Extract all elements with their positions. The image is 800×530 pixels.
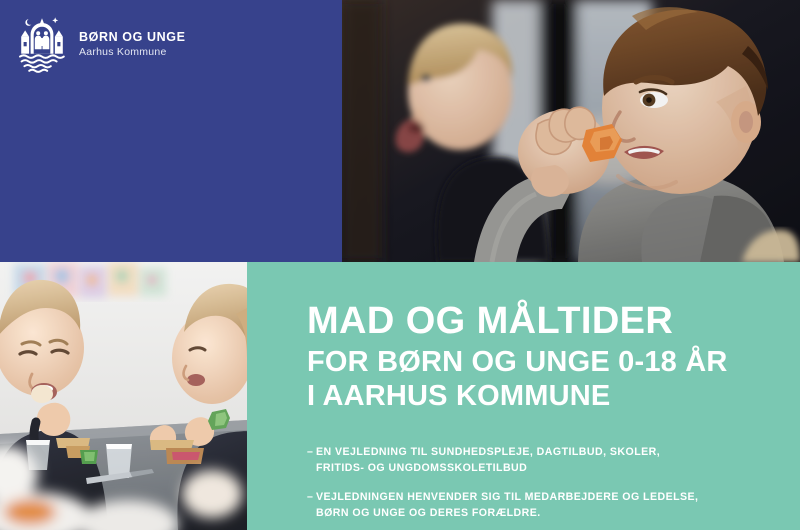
bullet-dash-icon: – <box>307 444 316 460</box>
aarhus-kommune-coat-of-arms-icon <box>14 14 70 76</box>
brand-panel: BØRN OG UNGE Aarhus Kommune <box>0 0 342 262</box>
publication-cover: BØRN OG UNGE Aarhus Kommune <box>0 0 800 530</box>
brand-title: BØRN OG UNGE <box>79 30 186 44</box>
teaser-panel: MAD OG MÅLTIDER FOR BØRN OG UNGE 0-18 ÅR… <box>247 262 800 530</box>
cover-headline: MAD OG MÅLTIDER FOR BØRN OG UNGE 0-18 ÅR… <box>307 302 790 413</box>
headline-line-2: FOR BØRN OG UNGE 0-18 ÅR <box>307 345 790 379</box>
bullet-dash-icon: – <box>307 489 316 505</box>
bullet-line: EN VEJLEDNING TIL SUNDHEDSPLEJE, DAGTILB… <box>316 444 660 460</box>
photo-two-toddlers-at-lunch-table-icon <box>0 262 247 530</box>
brand-subtitle: Aarhus Kommune <box>79 46 186 60</box>
photo-two-boys-eating-carrot-icon <box>342 0 800 262</box>
bullet-text: EN VEJLEDNING TIL SUNDHEDSPLEJE, DAGTILB… <box>316 444 660 477</box>
bullet-line: BØRN OG UNGE OG DERES FORÆLDRE. <box>316 505 698 521</box>
headline-line-3: I AARHUS KOMMUNE <box>307 379 790 413</box>
bullet-text: VEJLEDNINGEN HENVENDER SIG TIL MEDARBEJD… <box>316 489 698 522</box>
bullet-line: FRITIDS- OG UNGDOMSSKOLETILBUD <box>316 460 660 476</box>
brand-lockup: BØRN OG UNGE Aarhus Kommune <box>14 14 186 76</box>
list-item: – VEJLEDNINGEN HENVENDER SIG TIL MEDARBE… <box>307 489 788 522</box>
bullet-line: VEJLEDNINGEN HENVENDER SIG TIL MEDARBEJD… <box>316 489 698 505</box>
list-item: – EN VEJLEDNING TIL SUNDHEDSPLEJE, DAGTI… <box>307 444 788 477</box>
brand-text: BØRN OG UNGE Aarhus Kommune <box>79 30 186 59</box>
cover-bullet-list: – EN VEJLEDNING TIL SUNDHEDSPLEJE, DAGTI… <box>307 444 788 522</box>
headline-line-1: MAD OG MÅLTIDER <box>307 302 790 341</box>
